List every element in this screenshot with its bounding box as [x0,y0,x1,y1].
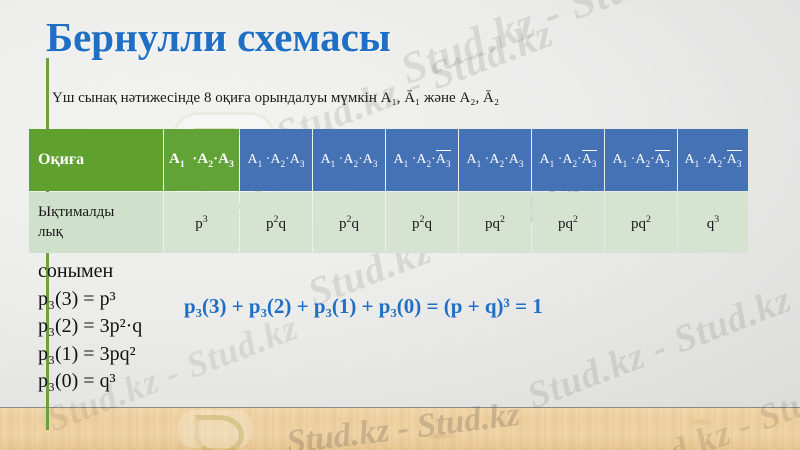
event-term-a1: A1 [539,152,554,168]
header-cell-event-8: A1 ·A2·A3 [678,129,748,191]
event-term-a1: A1 [247,152,262,168]
header-cell-event-7: A1 ·A2·A3 [605,129,677,191]
event-term-a2: A2 [562,152,577,167]
event-term-a3: A3 [363,152,378,167]
header-cell-event-label: Оқиға [29,129,163,191]
header-cell-event-1: A1 ·A2·A3 [164,129,239,191]
event-term-a1: A1 [466,152,481,168]
event-term-a3: A3 [655,152,670,168]
event-term-a1: A1 [612,152,627,167]
header-cell-event-2: A1 ·A2·A3 [240,129,312,191]
event-term-a3: A3 [582,152,597,168]
event-term-a2: A2 [343,152,358,168]
event-term-a3: A3 [436,152,451,168]
event-term-a1: A1 [393,152,408,167]
watermark-text: Stud.kz - Stud.kz [393,0,710,95]
subtitle-text: Үш сынақ нәтижесінде 8 оқиға орындалуы м… [52,90,499,107]
events-table-container: Оқиға A1 ·A2·A3 A1 ·A2·A3 A1 ·A2·A3 A1 ·… [28,128,745,254]
bottom-wood-bar: Stud.kz - Stud.kz [0,407,800,450]
probability-cell-3: p2q [313,192,385,253]
probability-cell-2: p2q [240,192,312,253]
watermark-text: Stud.kz - Stud.kz [521,277,797,418]
event-term-a2: A2 [197,151,213,167]
event-term-a3: A3 [218,151,234,167]
slide-canvas: Stud.kz - Stud.kz Stud.kz - Stud.kz Stud… [0,0,800,450]
probability-cell-8: q3 [678,192,748,253]
event-term-a1: A1 [320,152,335,167]
event-term-a2: A2 [635,152,650,168]
wood-logo-watermark-icon [178,410,252,448]
derivation-block: сонымен p₃(3) = p³ p₃(2) = 3p²·q p₃(1) =… [38,258,142,396]
probability-cell-4: p2q [386,192,458,253]
derivation-line-3: p₃(1) = 3pq² [38,341,142,369]
page-title: Бернулли схемасы [46,16,391,59]
derivation-line-2: p₃(2) = 3p²·q [38,313,142,341]
event-term-a2: A2 [489,152,504,168]
table-row-probability: Ықтималдылық p3 p2q p2q p2q pq2 pq2 pq2 … [29,192,748,253]
derivation-intro: сонымен [38,258,142,286]
probability-cell-6: pq2 [532,192,604,253]
header-cell-event-5: A1 ·A2·A3 [459,129,531,191]
header-cell-event-4: A1 ·A2·A3 [386,129,458,191]
probability-cell-5: pq2 [459,192,531,253]
event-term-a3: A3 [509,152,524,167]
event-term-a1: A1 [169,151,185,167]
probability-cell-1: p3 [164,192,239,253]
summary-formula: p₃(3) + p₃(2) + p₃(1) + p₃(0) = (p + q)³… [184,294,543,319]
event-term-a3: A3 [727,152,742,168]
derivation-line-4: p₃(0) = q³ [38,368,142,396]
events-table: Оқиға A1 ·A2·A3 A1 ·A2·A3 A1 ·A2·A3 A1 ·… [28,128,749,254]
event-term-a1: A1 [684,152,699,168]
event-term-a2: A2 [707,152,722,168]
table-row-header: Оқиға A1 ·A2·A3 A1 ·A2·A3 A1 ·A2·A3 A1 ·… [29,129,748,191]
event-term-a3: A3 [290,152,305,167]
header-cell-event-6: A1 ·A2·A3 [532,129,604,191]
event-term-a2: A2 [416,152,431,167]
event-term-a2: A2 [270,152,285,167]
derivation-line-1: p₃(3) = p³ [38,286,142,314]
row-label-probability: Ықтималдылық [29,192,163,253]
header-cell-event-3: A1 ·A2·A3 [313,129,385,191]
probability-cell-7: pq2 [605,192,677,253]
wood-watermark-text: Stud.kz - Stud.kz [285,396,522,450]
